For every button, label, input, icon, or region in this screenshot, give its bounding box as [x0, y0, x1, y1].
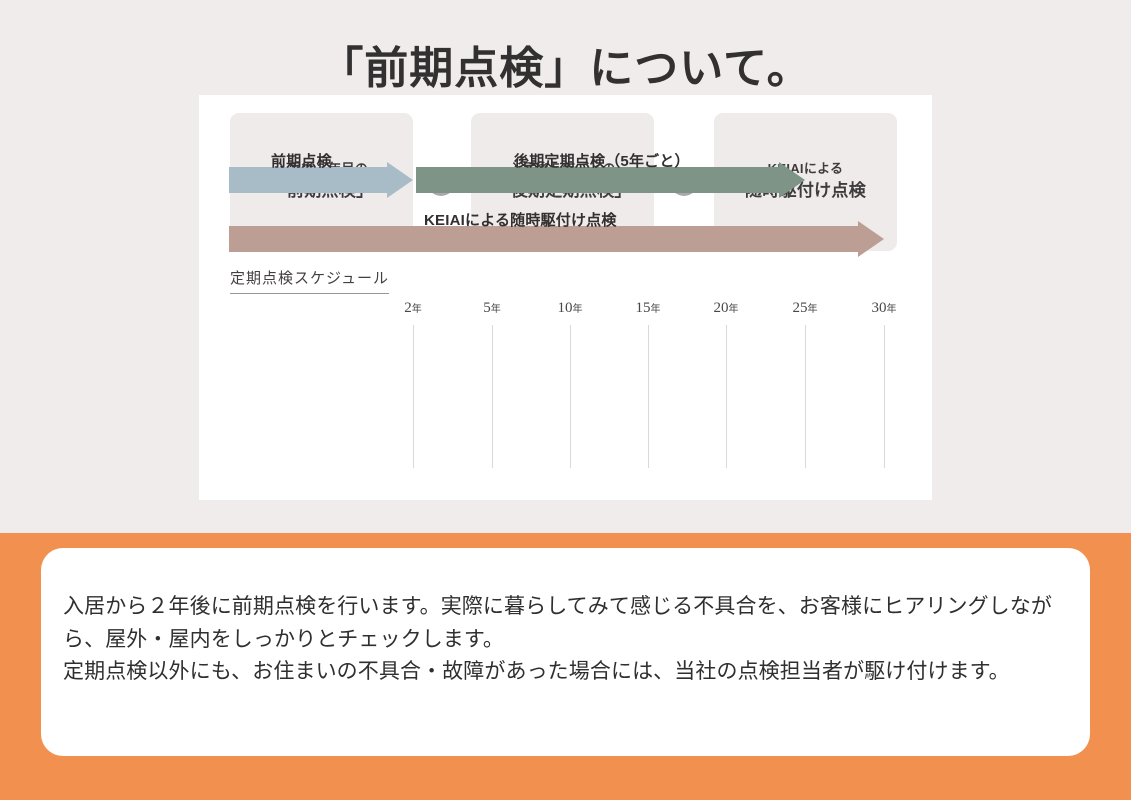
axis-tick-label: 30年 — [872, 300, 897, 317]
axis-tick-unit: 年 — [651, 304, 661, 315]
axis-tick-value: 10 — [558, 300, 573, 316]
timeline-arrow-label: 後期定期点検（5年ごと） — [514, 150, 690, 171]
note-body-text: 入居から２年後に前期点検を行います。実際に暮らしてみて感じる不具合を、お客様にヒ… — [63, 591, 1071, 689]
timeline-arrow-head — [387, 162, 413, 198]
schedule-heading: 定期点検スケジュール — [230, 267, 389, 294]
axis-tick-label: 20年 — [714, 300, 739, 317]
inspection-timeline: 2年5年10年15年20年25年30年前期点検後期定期点検（5年ごと）KEIAI… — [199, 300, 932, 485]
axis-gridline — [492, 325, 493, 468]
axis-tick-value: 15 — [636, 300, 651, 316]
axis-tick-unit: 年 — [887, 304, 897, 315]
axis-gridline — [648, 325, 649, 468]
axis-gridline — [805, 325, 806, 468]
axis-gridline — [413, 325, 414, 468]
axis-tick-label: 5年 — [483, 300, 501, 317]
axis-tick-label: 10年 — [558, 300, 583, 317]
axis-tick-label: 2年 — [404, 300, 422, 317]
timeline-arrow-head — [858, 221, 884, 257]
axis-tick-value: 20 — [714, 300, 729, 316]
axis-tick-unit: 年 — [491, 304, 501, 315]
axis-gridline — [570, 325, 571, 468]
note-card: 入居から２年後に前期点検を行います。実際に暮らしてみて感じる不具合を、お客様にヒ… — [41, 548, 1090, 756]
axis-gridline — [884, 325, 885, 468]
axis-tick-unit: 年 — [729, 304, 739, 315]
page-title: 「前期点検」について。 — [0, 43, 1131, 96]
axis-tick-label: 25年 — [793, 300, 818, 317]
axis-tick-value: 2 — [404, 300, 412, 316]
timeline-arrow-label: 前期点検 — [271, 150, 332, 171]
axis-tick-unit: 年 — [573, 304, 583, 315]
axis-tick-label: 15年 — [636, 300, 661, 317]
axis-tick-value: 5 — [483, 300, 491, 316]
axis-tick-value: 25 — [793, 300, 808, 316]
axis-tick-unit: 年 — [808, 304, 818, 315]
timeline-arrow-head — [779, 162, 805, 198]
axis-tick-value: 30 — [872, 300, 887, 316]
timeline-arrow-label: KEIAIによる随時駆付け点検 — [424, 209, 617, 230]
axis-gridline — [726, 325, 727, 468]
diagram-panel: 入居後２年目の 「前期点検」 入居後５年ごとの 「後期定期点検」 KEIAIによ… — [199, 95, 932, 500]
axis-tick-unit: 年 — [412, 304, 422, 315]
